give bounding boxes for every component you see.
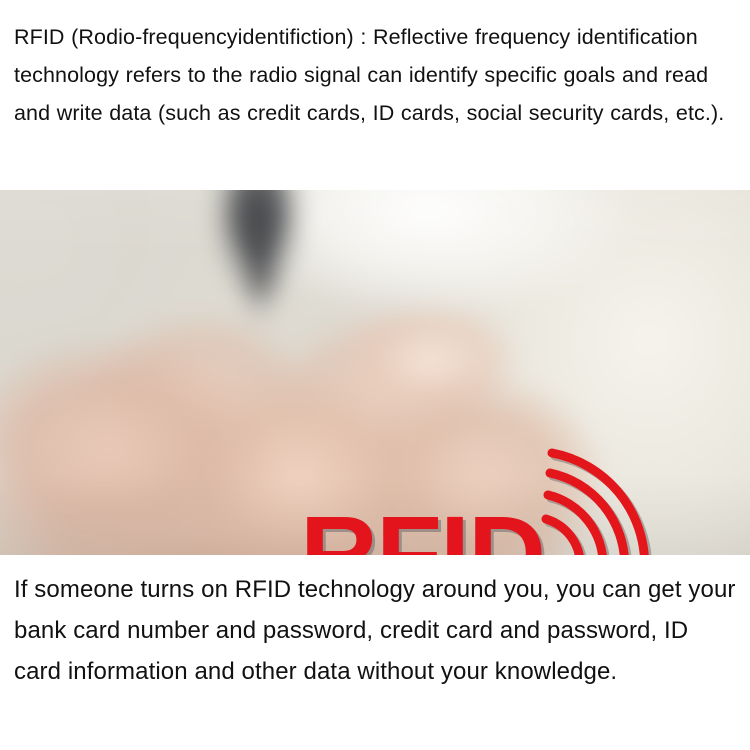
- rfid-hero-image: RFID: [0, 190, 750, 555]
- product-description-page: RFID (Rodio-frequencyidentifiction) : Re…: [0, 0, 750, 750]
- bottom-description-text: If someone turns on RFID technology arou…: [14, 569, 736, 692]
- rfid-signal-wave-icon: [540, 445, 680, 555]
- rfid-logo: RFID: [300, 445, 680, 555]
- rfid-wordmark: RFID: [300, 500, 544, 555]
- bottom-description-block: If someone turns on RFID technology arou…: [0, 555, 750, 750]
- top-description-text: RFID (Rodio-frequencyidentifiction) : Re…: [14, 18, 736, 132]
- top-description-block: RFID (Rodio-frequencyidentifiction) : Re…: [0, 0, 750, 190]
